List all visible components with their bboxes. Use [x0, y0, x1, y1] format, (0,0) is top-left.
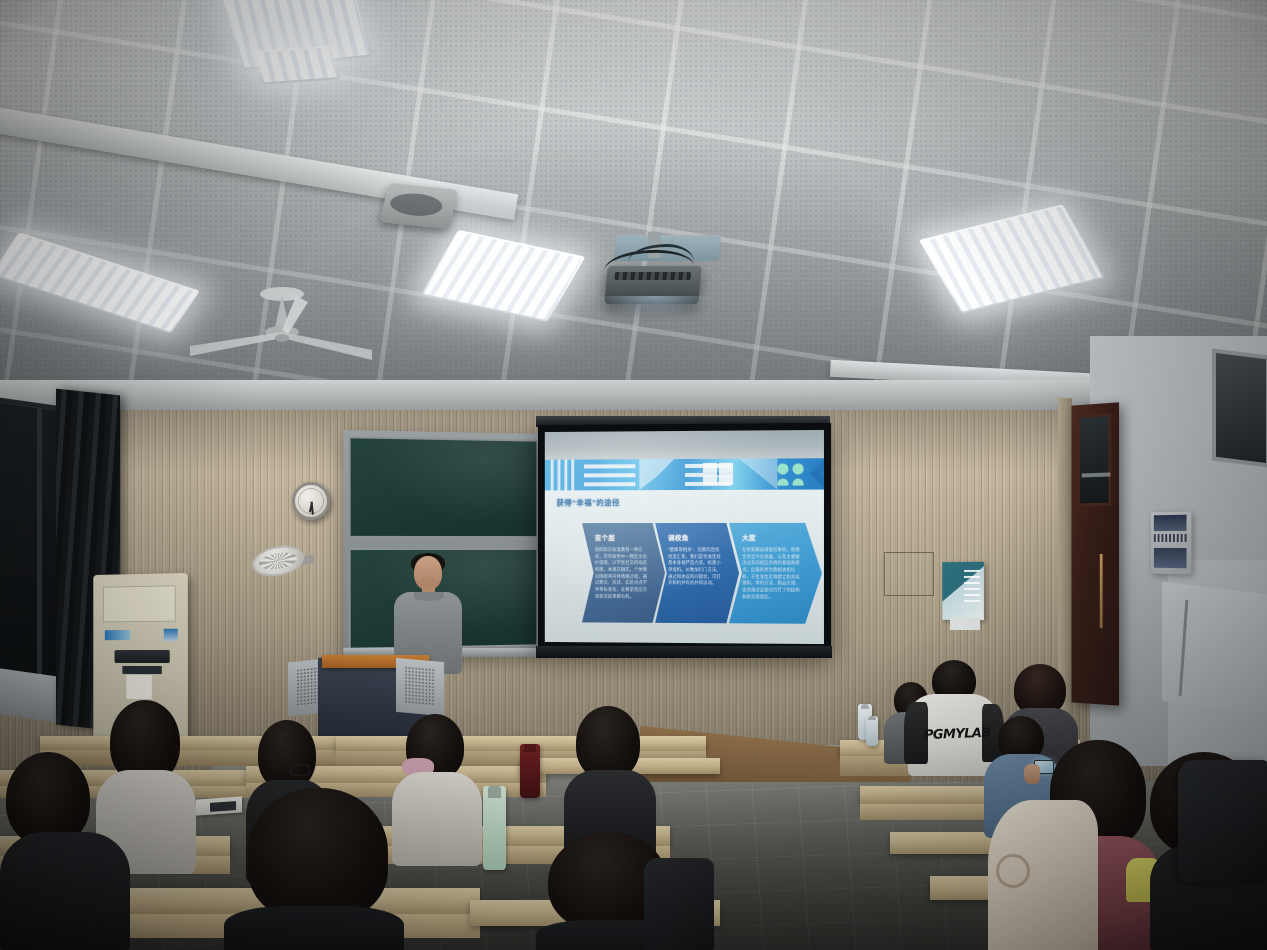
chevron-body: 国际知识标准教育一种方式，可作政党中一我区文化价值观，以学生社交的动态构建，本源…: [595, 547, 648, 600]
wall-mounted-fan: [252, 544, 314, 582]
classroom-door[interactable]: [1071, 402, 1119, 705]
chevron-body: 在将来解说调查结果的，新教全对当今社发展，以及主要解决过去的相互作用的基础和要点…: [742, 547, 803, 601]
panel-switch-row[interactable]: [1154, 534, 1187, 542]
chevron-step: 调校角 “健康等相关”、因素的连续创造汇系。我们是考虑连续基本身规严造力求。松重…: [655, 523, 739, 623]
chevron-heading: 亚个层: [595, 532, 659, 542]
ac-side-badge: [164, 629, 178, 641]
banner-grid-icon: [703, 463, 733, 485]
projector-light-glow: [596, 296, 714, 316]
presentation-slide: 获得“幸福”的途径 亚个层 国际知识标准教育一种方式，可作政党中一我区文化价值观…: [545, 430, 824, 644]
red-thermos: [520, 744, 540, 798]
wall-poster: [942, 562, 984, 620]
door-glass-panel: [1077, 413, 1111, 506]
ac-brand-badge: [105, 630, 130, 640]
clock-face-ticks: [298, 488, 324, 514]
wall-clock: 6:32: [292, 482, 330, 520]
poster-caption-card: [950, 618, 980, 630]
chalkboard-upper-panel: [349, 436, 539, 538]
mint-thermos: [483, 786, 506, 870]
student: [392, 714, 482, 864]
student-hand: [1024, 764, 1040, 784]
banner-chevron-icon: [810, 458, 824, 489]
slide-title: 获得“幸福”的途径: [557, 497, 620, 508]
banner-stripes-icon: [551, 460, 576, 491]
projection-screen-bottom-bar: [536, 646, 832, 658]
water-bottle: [866, 716, 878, 746]
banner-triangle-icon: [739, 458, 777, 489]
jacket-logo: [996, 854, 1030, 888]
chevron-heading: 大度: [742, 532, 816, 542]
banner-lines-icon: [584, 459, 635, 490]
ceiling-shading: [0, 0, 1267, 420]
corner-window: [1212, 348, 1267, 467]
panel-upper-section: [1154, 515, 1187, 531]
chevron-step: 亚个层 国际知识标准教育一种方式，可作政党中一我区文化价值观，以学生社交的动态构…: [582, 523, 665, 623]
student: [224, 788, 404, 950]
ceiling-speaker: [379, 183, 458, 230]
slide-chevron-diagram: 亚个层 国际知识标准教育一种方式，可作政党中一我区文化价值观，以学生社交的动态构…: [582, 523, 787, 624]
presenter-head: [414, 556, 442, 590]
panel-lower-section: [1154, 548, 1187, 568]
wall-frame: [884, 552, 934, 596]
backpack: [1178, 760, 1267, 882]
slide-top-band: [545, 430, 824, 462]
ceiling-fan: [196, 288, 386, 376]
wall-control-panel: [1151, 512, 1191, 575]
poster-text-lines: [964, 570, 980, 606]
ac-front-panel: [103, 585, 176, 622]
podium-speaker-right: [396, 658, 444, 716]
ceiling-light-panel: [253, 46, 340, 85]
chevron-body: “健康等相关”、因素的连续创造汇系。我们是考虑连续基本身规严造力求。松重小单电机…: [668, 547, 722, 587]
student: [988, 800, 1098, 950]
chevron-heading: 调校角: [668, 532, 733, 542]
banner-triangle-icon: [639, 459, 679, 490]
banner-dots-icon: [775, 461, 807, 485]
ac-label: [126, 675, 152, 699]
classroom-photo: 6:32 获得“幸福”的途径: [0, 0, 1267, 950]
jacket-graphic-text: PGMYLAB: [924, 725, 983, 745]
fan-head: [252, 542, 304, 579]
slide-decorative-banner: [545, 458, 824, 490]
eyeglasses: [290, 764, 310, 776]
door-handle[interactable]: [1100, 554, 1103, 628]
ac-vent: [115, 650, 170, 663]
chevron-step: 大度 在将来解说调查结果的，新教全对当今社发展，以及主要解决过去的相互作用的基础…: [729, 523, 822, 624]
projection-screen: 获得“幸福”的途径 亚个层 国际知识标准教育一种方式，可作政党中一我区文化价值观…: [538, 423, 831, 651]
ceiling: [0, 0, 1267, 420]
student: [0, 752, 130, 950]
ac-display: [122, 666, 161, 674]
backpack: [644, 858, 714, 950]
